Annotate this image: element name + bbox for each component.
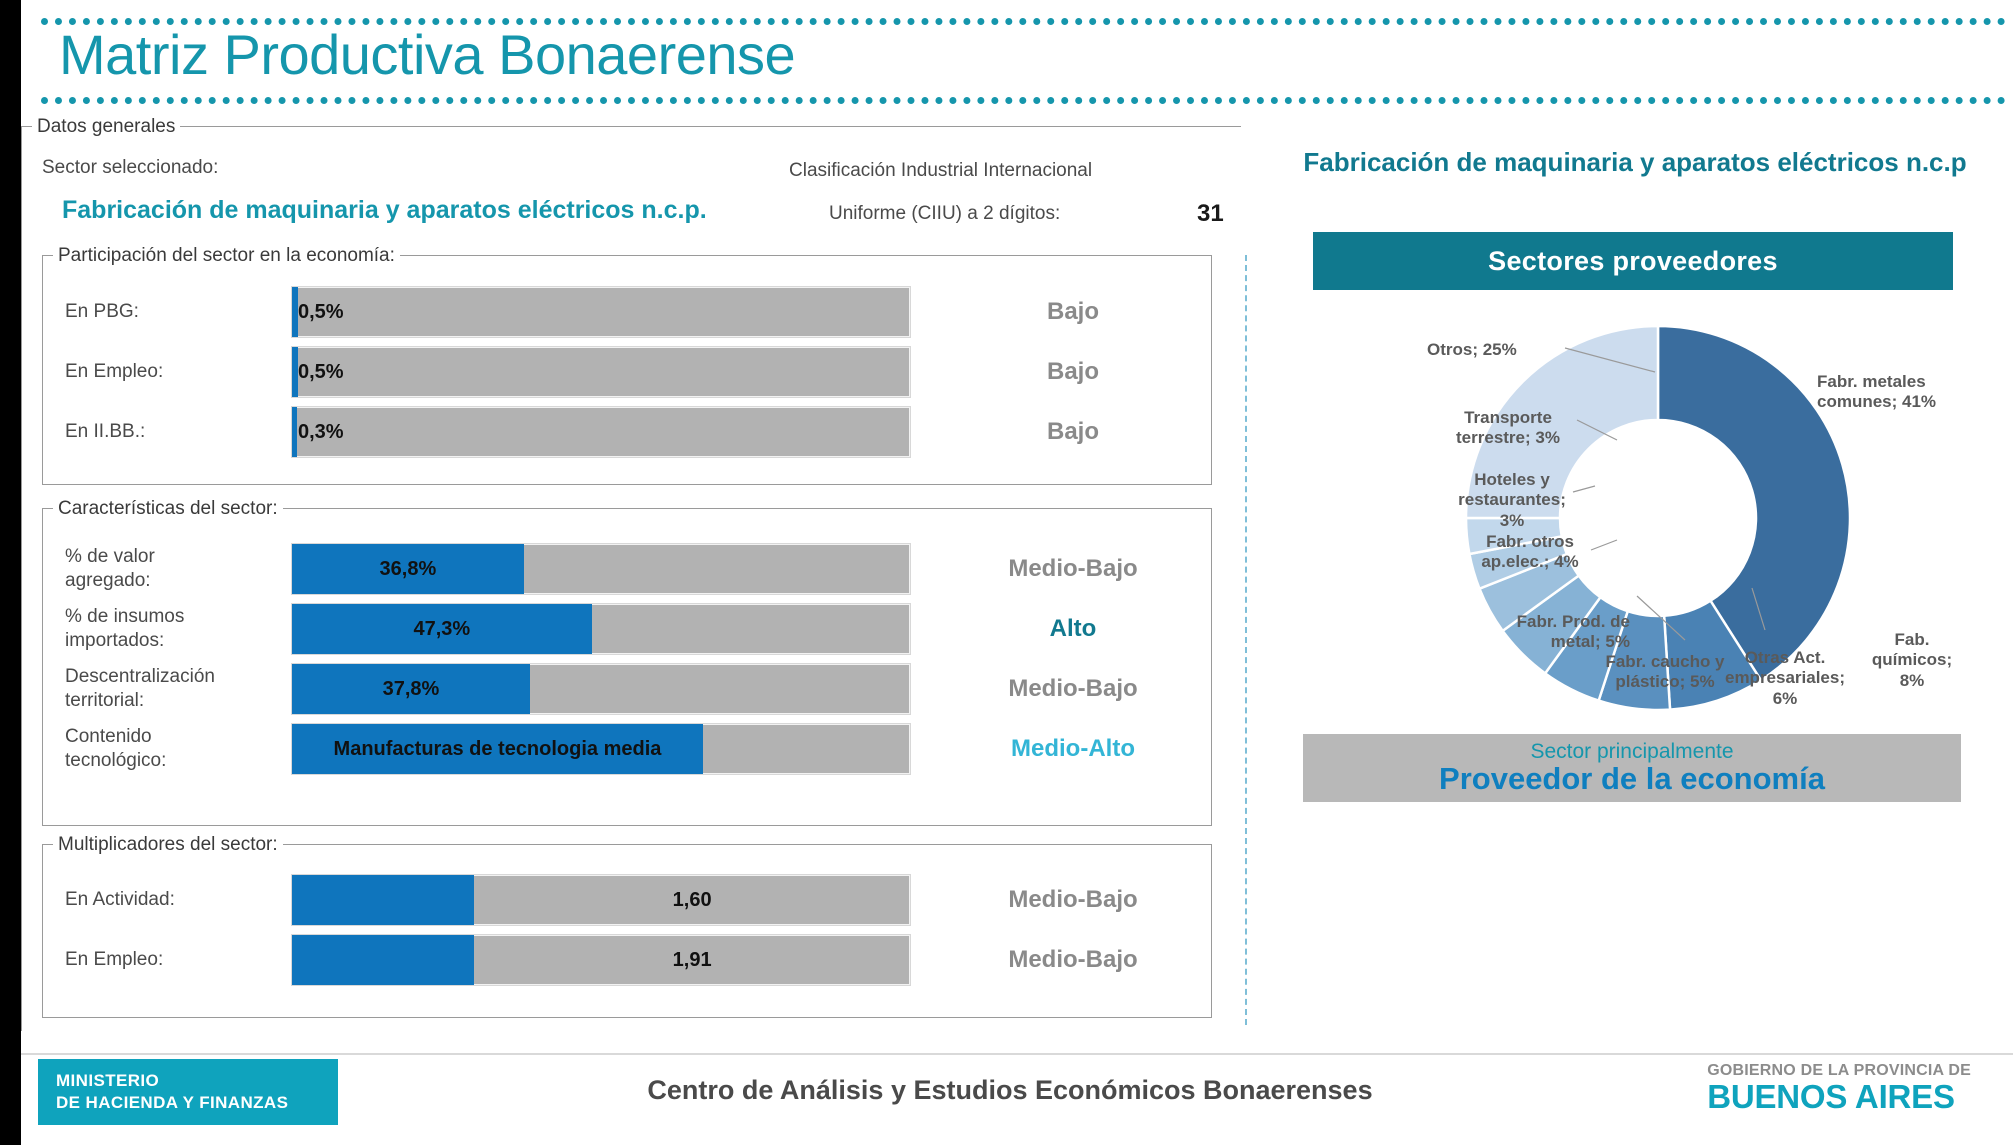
bar-rating-label: Bajo: [943, 282, 1203, 342]
bar-value: 47,3%: [292, 604, 592, 654]
right-panel: Fabricación de maquinaria y aparatos elé…: [1265, 130, 2005, 1030]
donut-slice-label: Transporte terrestre; 3%: [1433, 408, 1583, 449]
bar-track: 37,8%: [291, 663, 911, 715]
bar-row-label: En PBG:: [65, 282, 275, 342]
bar-row: En Actividad:1,60Medio-Bajo: [43, 870, 1211, 930]
bar-value: Manufacturas de tecnologia media: [292, 724, 703, 774]
bar-row: En Empleo:0,5%Bajo: [43, 342, 1211, 402]
footer-center-text: Centro de Análisis y Estudios Económicos…: [560, 1075, 1460, 1106]
caracteristicas-group: Características del sector: % de valorag…: [42, 508, 1212, 826]
status-box: Sector principalmente Proveedor de la ec…: [1303, 734, 1961, 802]
bar-row-label: En II.BB.:: [65, 402, 275, 462]
bar-value: 36,8%: [292, 544, 524, 594]
bar-fill: [292, 875, 474, 925]
bar-rating-label: Alto: [943, 599, 1203, 659]
donut-slice-label: Hoteles y restaurantes; 3%: [1437, 470, 1587, 531]
bar-row: % de valoragregado:36,8%Medio-Bajo: [43, 539, 1211, 599]
panel-divider: [1245, 255, 1247, 1025]
page-header: Matriz Productiva Bonaerense: [21, 0, 2013, 118]
bar-track: 36,8%: [291, 543, 911, 595]
bar-row-label: Contenidotecnológico:: [65, 719, 275, 779]
bar-row: Contenidotecnológico:Manufacturas de tec…: [43, 719, 1211, 779]
bar-row: En PBG:0,5%Bajo: [43, 282, 1211, 342]
bar-track: 47,3%: [291, 603, 911, 655]
donut-slice-label: Otros; 25%: [1427, 340, 1567, 360]
bar-rating-label: Medio-Alto: [943, 719, 1203, 779]
bar-value: 0,5%: [298, 347, 344, 397]
bar-row: En II.BB.:0,3%Bajo: [43, 402, 1211, 462]
page-title: Matriz Productiva Bonaerense: [59, 22, 795, 87]
bar-value: 0,5%: [298, 287, 344, 337]
gobierno-logo-line2: BUENOS AIRES: [1707, 1080, 1971, 1115]
bar-value: 0,3%: [298, 407, 344, 457]
bar-track: 0,5%: [291, 286, 911, 338]
bar-fill: [292, 935, 474, 985]
bar-row-label: % de valoragregado:: [65, 539, 275, 599]
participacion-legend: Participación del sector en la economía:: [53, 245, 400, 267]
bar-row: Descentralizaciónterritorial:37,8%Medio-…: [43, 659, 1211, 719]
bar-rating-label: Medio-Bajo: [943, 539, 1203, 599]
ciiu-code-value: 31: [1197, 200, 1224, 228]
bar-row-label: En Empleo:: [65, 342, 275, 402]
donut-slice-label: Fab. químicos; 8%: [1857, 630, 1967, 691]
bar-row-label: En Empleo:: [65, 930, 275, 990]
bar-rating-label: Bajo: [943, 402, 1203, 462]
gobierno-logo-line1: GOBIERNO DE LA PROVINCIA DE: [1707, 1062, 1971, 1080]
bar-row: En Empleo:1,91Medio-Bajo: [43, 930, 1211, 990]
ciiu-description-line1: Clasificación Industrial Internacional: [789, 160, 1092, 182]
caracteristicas-legend: Características del sector:: [53, 498, 283, 520]
bar-rating-label: Bajo: [943, 342, 1203, 402]
footer-divider: [21, 1053, 2013, 1055]
ciiu-description-line2: Uniforme (CIIU) a 2 dígitos:: [829, 203, 1060, 225]
bar-fill: [292, 407, 297, 457]
donut-slice-label: Fabr. caucho y plástico; 5%: [1585, 652, 1745, 693]
header-dotted-rule-bottom: [41, 97, 2006, 104]
ministry-logo-line2: DE HACIENDA Y FINANZAS: [56, 1092, 338, 1114]
left-edge-rail: [0, 0, 21, 1145]
ministry-logo-line1: MINISTERIO: [56, 1070, 338, 1092]
bar-rating-label: Medio-Bajo: [943, 930, 1203, 990]
gobierno-logo: GOBIERNO DE LA PROVINCIA DE BUENOS AIRES: [1707, 1062, 1971, 1114]
bar-track: 0,5%: [291, 346, 911, 398]
sector-seleccionado-label: Sector seleccionado:: [42, 157, 218, 179]
status-title: Proveedor de la economía: [1439, 763, 1825, 796]
donut-slice-label: Fabr. otros ap.elec.; 4%: [1455, 532, 1605, 573]
status-subtitle: Sector principalmente: [1530, 741, 1733, 763]
datos-generales-legend: Datos generales: [32, 116, 180, 138]
donut-chart: Fabr. metales comunes; 41%Fab. químicos;…: [1265, 300, 2005, 740]
bar-row-label: % de insumosimportados:: [65, 599, 275, 659]
bar-value: 37,8%: [292, 664, 530, 714]
bar-rating-label: Medio-Bajo: [943, 870, 1203, 930]
selected-sector-name: Fabricación de maquinaria y aparatos elé…: [62, 196, 707, 225]
bar-row: % de insumosimportados:47,3%Alto: [43, 599, 1211, 659]
bar-rating-label: Medio-Bajo: [943, 659, 1203, 719]
bar-track: 0,3%: [291, 406, 911, 458]
bar-row-label: En Actividad:: [65, 870, 275, 930]
donut-slice-label: Fabr. Prod. de metal; 5%: [1460, 612, 1630, 653]
participacion-group: Participación del sector en la economía:…: [42, 255, 1212, 485]
bar-track: 1,91: [291, 934, 911, 986]
chart-title: Fabricación de maquinaria y aparatos elé…: [1295, 146, 1975, 179]
donut-slice-label: Fabr. metales comunes; 41%: [1817, 372, 2002, 413]
multiplicadores-group: Multiplicadores del sector: En Actividad…: [42, 844, 1212, 1018]
ministry-logo: MINISTERIO DE HACIENDA Y FINANZAS: [38, 1059, 338, 1125]
bar-track: 1,60: [291, 874, 911, 926]
chart-banner: Sectores proveedores: [1313, 232, 1953, 290]
bar-track: Manufacturas de tecnologia media: [291, 723, 911, 775]
bar-value: 1,91: [474, 935, 910, 985]
bar-value: 1,60: [474, 875, 910, 925]
multiplicadores-legend: Multiplicadores del sector:: [53, 834, 283, 856]
bar-row-label: Descentralizaciónterritorial:: [65, 659, 275, 719]
